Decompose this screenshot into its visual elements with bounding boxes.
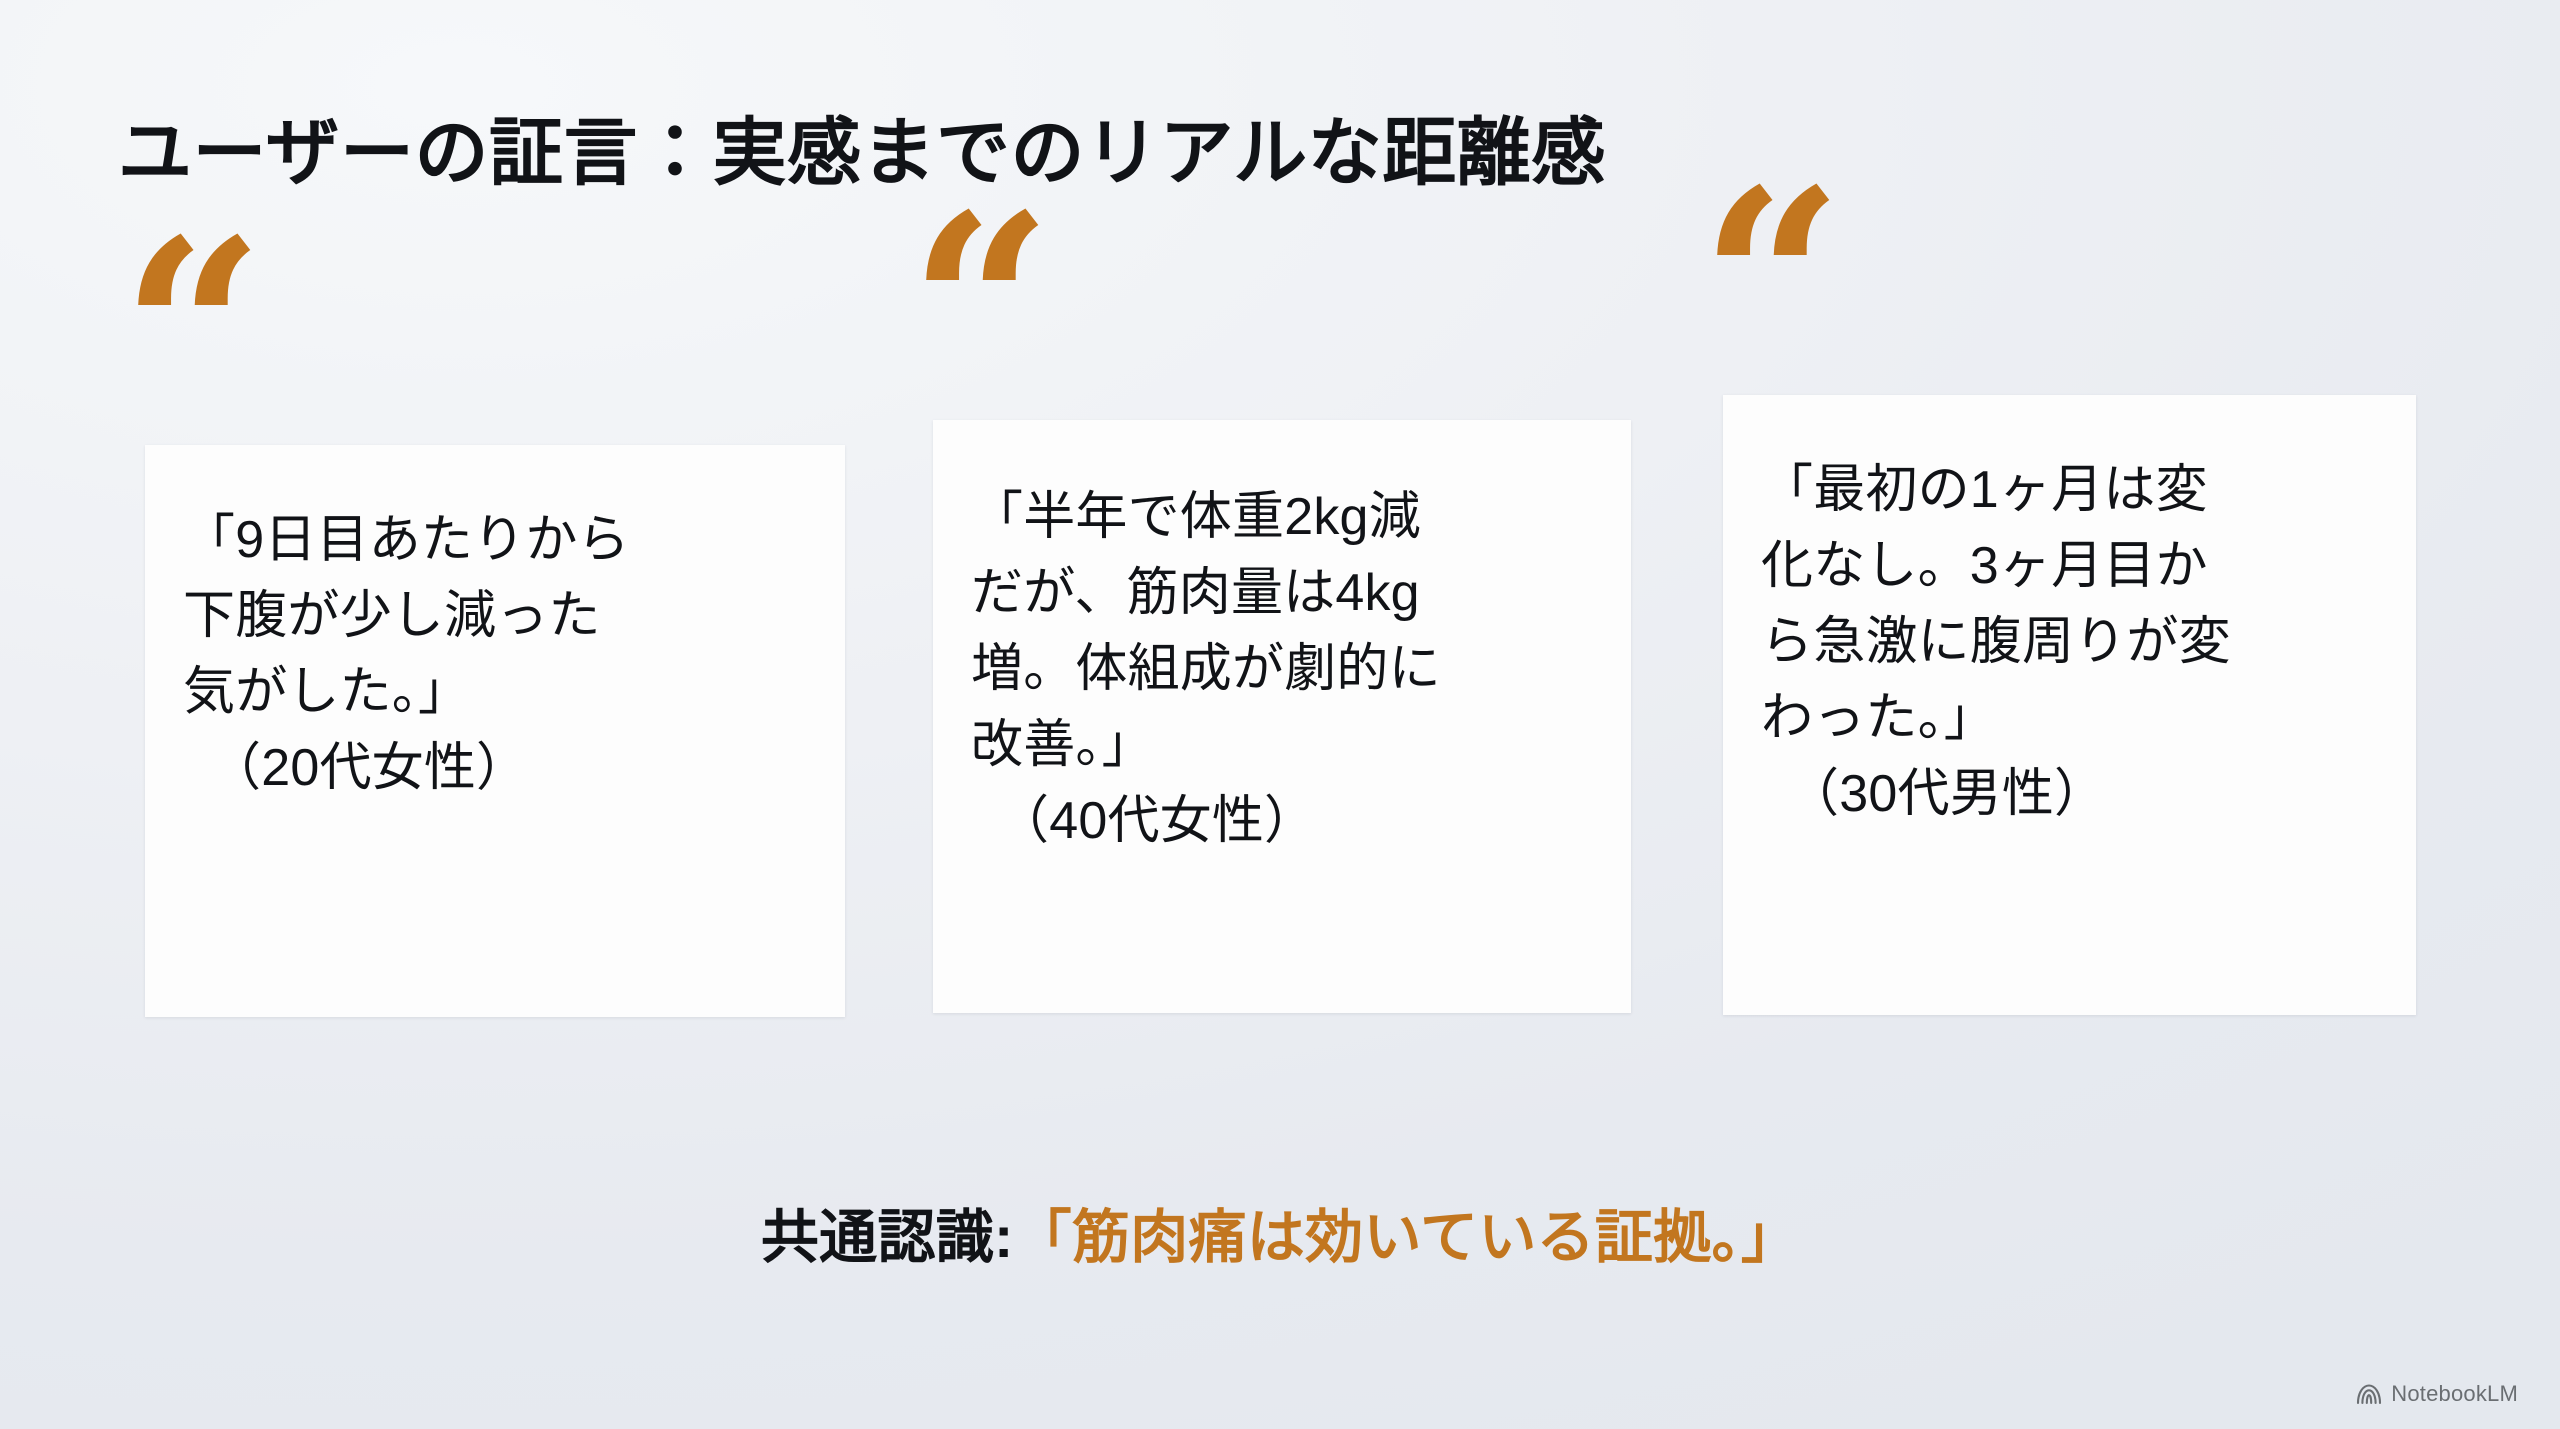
slide-canvas: ユーザーの証言：実感までのリアルな距離感 “ 「9日目あたりから 下腹が少し減っ… <box>0 0 2560 1429</box>
notebooklm-watermark: NotebookLM <box>2356 1381 2518 1407</box>
notebooklm-label: NotebookLM <box>2391 1381 2518 1407</box>
testimonial-text: 「半年で体重2kg減 だが、筋肉量は4kg 増。体組成が劇的に 改善。」 （40… <box>933 480 1631 860</box>
quote-line: 改善。」 <box>971 708 1593 784</box>
testimonial-card: 「9日目あたりから 下腹が少し減った 気がした。」 （20代女性） <box>145 445 845 1017</box>
testimonial-card: 「半年で体重2kg減 だが、筋肉量は4kg 増。体組成が劇的に 改善。」 （40… <box>933 420 1631 1013</box>
quote-line: 気がした。」 <box>183 655 807 731</box>
quote-line: 「最初の1ヶ月は変 <box>1761 453 2378 529</box>
consensus-statement: 共通認識:「筋肉痛は効いている証拠。」 <box>0 1190 2560 1274</box>
quote-line: だが、筋肉量は4kg <box>971 556 1593 632</box>
testimonial-text: 「9日目あたりから 下腹が少し減った 気がした。」 （20代女性） <box>145 503 845 807</box>
testimonial-attribution: （20代女性） <box>183 731 807 807</box>
quote-line: 「9日目あたりから <box>183 503 807 579</box>
quotation-mark-icon: “ <box>121 206 265 456</box>
testimonial-attribution: （30代男性） <box>1761 757 2378 833</box>
testimonial-text: 「最初の1ヶ月は変 化なし。3ヶ月目か ら急激に腹周りが変 わった。」 （30代… <box>1723 453 2416 833</box>
consensus-highlight: 「筋肉痛は効いている証拠。」 <box>1014 1205 1799 1270</box>
quote-line: ら急激に腹周りが変 <box>1761 605 2378 681</box>
testimonial-card: 「最初の1ヶ月は変 化なし。3ヶ月目か ら急激に腹周りが変 わった。」 （30代… <box>1723 395 2416 1015</box>
consensus-label: 共通認識: <box>761 1205 1014 1270</box>
notebooklm-spiral-icon <box>2356 1382 2382 1406</box>
quote-line: 化なし。3ヶ月目か <box>1761 529 2378 605</box>
quote-line: 「半年で体重2kg減 <box>971 480 1593 556</box>
quote-line: わった。」 <box>1761 681 2378 757</box>
quotation-mark-icon: “ <box>909 181 1053 431</box>
testimonial-attribution: （40代女性） <box>971 784 1593 860</box>
quote-line: 増。体組成が劇的に <box>971 632 1593 708</box>
quotation-mark-icon: “ <box>1700 156 1844 406</box>
quote-line: 下腹が少し減った <box>183 579 807 655</box>
